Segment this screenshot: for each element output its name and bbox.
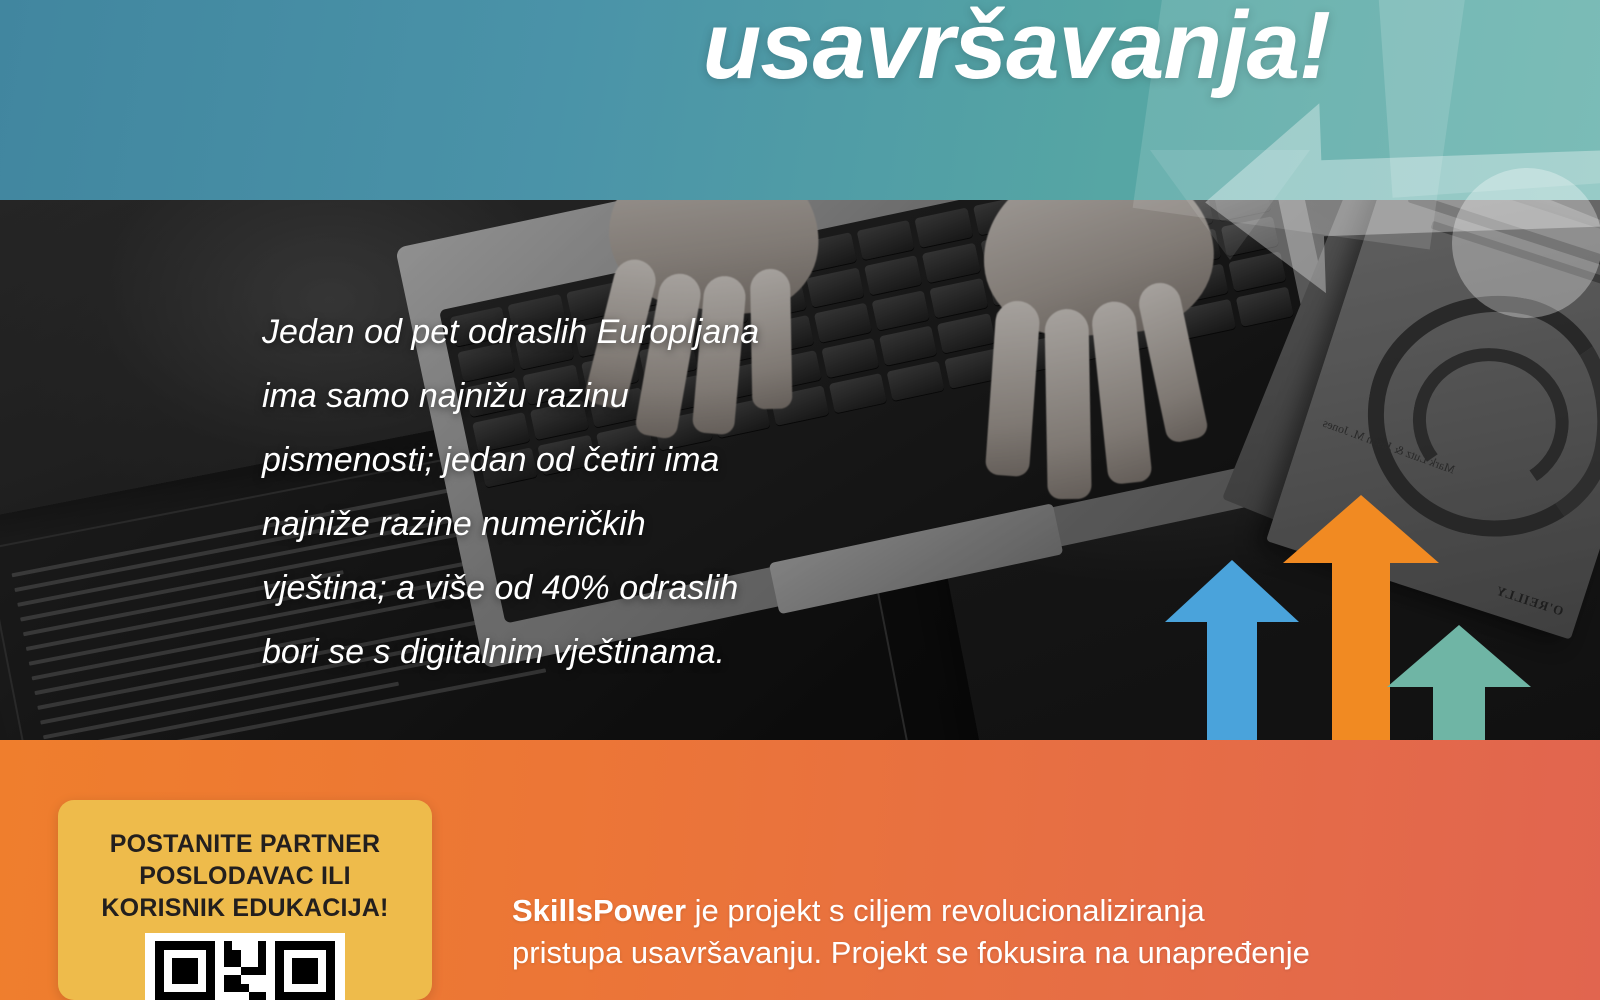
quote-line-3: pismenosti; jedan od četiri ima (262, 428, 1022, 492)
footer-body-part1: je projekt s ciljem revolucionaliziranja (686, 893, 1205, 928)
quote-line-1: Jedan od pet odraslih Europljana (262, 300, 1022, 364)
page-title: usavršavanja! (0, 0, 1600, 98)
brand-name: SkillsPower (512, 893, 686, 928)
partner-cta-card[interactable]: POSTANITE PARTNER POSLODAVAC ILI KORISNI… (58, 800, 432, 1000)
cta-line-3: KORISNIK EDUKACIJA! (76, 892, 414, 924)
qr-code-icon[interactable] (145, 933, 345, 1000)
footer-body-line2: pristupa usavršavanju. Projekt se fokusi… (512, 935, 1310, 970)
footer-description: SkillsPower je projekt s ciljem revoluci… (512, 890, 1572, 974)
poster-root: Mark Lutz & Jason M. Jones O'REILLY usav… (0, 0, 1600, 1000)
quote-line-2: ima samo najnižu razinu (262, 364, 1022, 428)
decor-circle (1452, 168, 1600, 318)
cta-line-1: POSTANITE PARTNER (76, 828, 414, 860)
quote-line-5: vještina; a više od 40% odraslih (262, 556, 1022, 620)
page-title-line2: usavršavanja! (0, 0, 1330, 98)
partner-cta-text: POSTANITE PARTNER POSLODAVAC ILI KORISNI… (58, 800, 432, 924)
quote-line-6: bori se s digitalnim vještinama. (262, 620, 1022, 684)
quote-line-4: najniže razine numeričkih (262, 492, 1022, 556)
quote-text: Jedan od pet odraslih Europljana ima sam… (262, 300, 1022, 684)
cta-line-2: POSLODAVAC ILI (76, 860, 414, 892)
